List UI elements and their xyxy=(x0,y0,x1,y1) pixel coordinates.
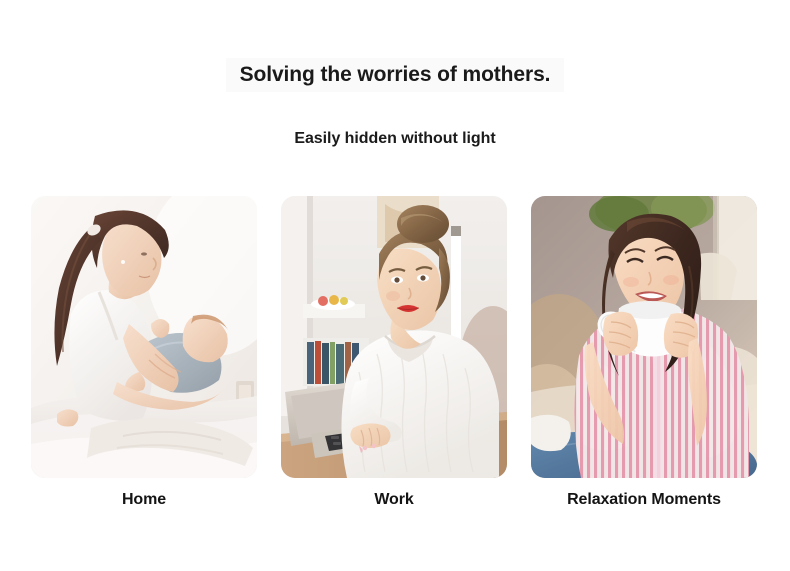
caption-cell-work: Work xyxy=(281,489,507,515)
caption-relaxation: Relaxation Moments xyxy=(567,491,721,508)
caption-cell-home: Home xyxy=(31,489,257,515)
caption-work: Work xyxy=(374,491,413,508)
page-subtitle: Easily hidden without light xyxy=(294,129,495,149)
page-title: Solving the worries of mothers. xyxy=(226,58,565,92)
photo-woman-laptop xyxy=(281,196,507,478)
image-card-row xyxy=(31,196,757,478)
image-card-relaxation[interactable] xyxy=(531,196,757,478)
photo-woman-mug xyxy=(531,196,757,478)
caption-row: Home Work Relaxation Moments xyxy=(31,489,757,515)
promo-banner: Solving the worries of mothers. Easily h… xyxy=(0,0,790,571)
photo-mother-breastfeeding xyxy=(31,196,257,478)
image-card-home[interactable] xyxy=(31,196,257,478)
caption-cell-relaxation: Relaxation Moments xyxy=(531,489,757,515)
image-card-work[interactable] xyxy=(281,196,507,478)
subheadline-row: Easily hidden without light xyxy=(0,129,790,149)
caption-home: Home xyxy=(122,491,166,508)
headline-row: Solving the worries of mothers. xyxy=(0,58,790,92)
